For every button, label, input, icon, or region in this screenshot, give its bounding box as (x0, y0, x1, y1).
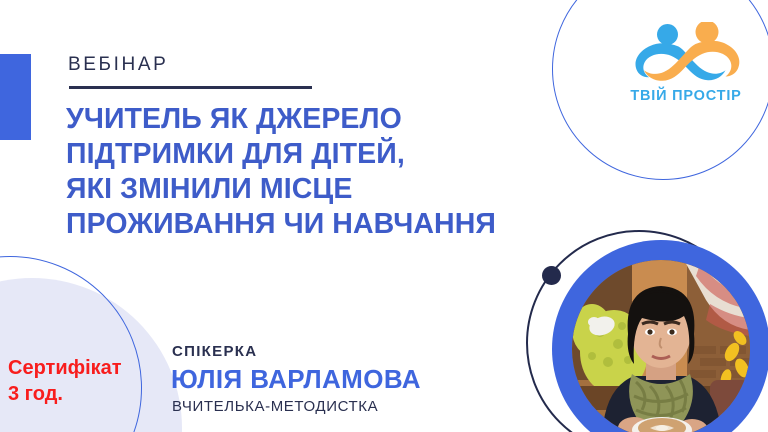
speaker-label: СПІКЕРКА (172, 343, 257, 360)
speaker-role: ВЧИТЕЛЬКА-МЕТОДИСТКА (172, 398, 378, 415)
certificate-badge-line-2: 3 год. (8, 381, 138, 407)
blue-accent-bar-decoration (0, 54, 31, 140)
orbit-dot-decoration (542, 266, 561, 285)
certificate-badge: Сертифікат 3 год. (8, 355, 138, 407)
page-title-line-3: ЯКІ ЗМІНИЛИ МІСЦЕ (66, 172, 536, 207)
page-title: УЧИТЕЛЬ ЯК ДЖЕРЕЛО ПІДТРИМКИ ДЛЯ ДІТЕЙ, … (66, 102, 536, 242)
speaker-name: ЮЛІЯ ВАРЛАМОВА (171, 364, 421, 395)
certificate-badge-line-1: Сертифікат (8, 355, 138, 381)
webinar-promo-poster: ВЕБІНАР УЧИТЕЛЬ ЯК ДЖЕРЕЛО ПІДТРИМКИ ДЛЯ… (0, 0, 768, 432)
kicker-underline-divider (69, 86, 312, 89)
speaker-portrait (528, 228, 768, 432)
page-title-line-1: УЧИТЕЛЬ ЯК ДЖЕРЕЛО (66, 102, 536, 137)
avatar (572, 260, 750, 432)
kicker-label: ВЕБІНАР (68, 54, 168, 76)
brand-logo: ТВІЙ ПРОСТІР (624, 22, 748, 120)
page-title-line-4: ПРОЖИВАННЯ ЧИ НАВЧАННЯ (66, 207, 536, 242)
page-title-line-2: ПІДТРИМКИ ДЛЯ ДІТЕЙ, (66, 137, 536, 172)
two-people-infinity-icon (628, 22, 744, 86)
brand-wordmark: ТВІЙ ПРОСТІР (624, 88, 748, 104)
